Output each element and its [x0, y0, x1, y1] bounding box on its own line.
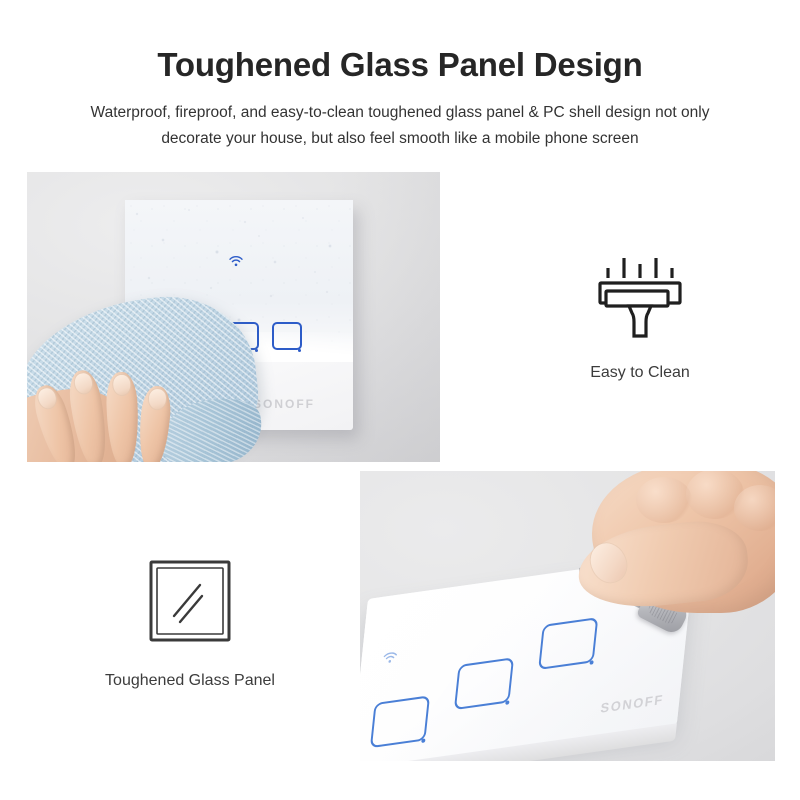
touch-button-indicator-dot	[255, 349, 258, 352]
page-title: Toughened Glass Panel Design	[0, 46, 800, 84]
wifi-icon	[229, 256, 243, 267]
photo-scratch-test: SONOFF	[360, 471, 775, 761]
feature-label-easy-to-clean: Easy to Clean	[534, 364, 746, 382]
feature-easy-to-clean: Easy to Clean	[534, 250, 746, 382]
fingernail	[36, 386, 58, 410]
knuckle	[636, 477, 692, 523]
finger	[136, 385, 172, 462]
feature-toughened-glass-panel: Toughened Glass Panel	[60, 556, 320, 690]
touch-button-indicator-dot	[298, 349, 301, 352]
wifi-icon	[383, 651, 398, 664]
product-feature-page: Toughened Glass Panel Design Waterproof,…	[0, 0, 800, 800]
page-subtitle: Waterproof, fireproof, and easy-to-clean…	[50, 100, 750, 152]
fingernail	[148, 388, 167, 409]
thumbnail	[584, 537, 633, 588]
subtitle-line-1: Waterproof, fireproof, and easy-to-clean…	[50, 100, 750, 126]
fingernail	[112, 375, 130, 396]
glass-panel-icon	[60, 556, 320, 648]
squeegee-icon	[534, 250, 746, 342]
sonoff-brand-logo: SONOFF	[253, 397, 315, 411]
hand-wiping	[27, 348, 241, 462]
touch-button-3[interactable]	[272, 322, 302, 350]
fingernail	[73, 372, 93, 394]
feature-label-toughened-glass-panel: Toughened Glass Panel	[60, 672, 320, 690]
subtitle-line-2: decorate your house, but also feel smoot…	[50, 126, 750, 152]
touch-button-2[interactable]	[454, 657, 514, 710]
hand-holding-key	[574, 471, 775, 663]
touch-button-1[interactable]	[370, 695, 430, 748]
photo-cleaning-panel: SONOFF	[27, 172, 440, 462]
